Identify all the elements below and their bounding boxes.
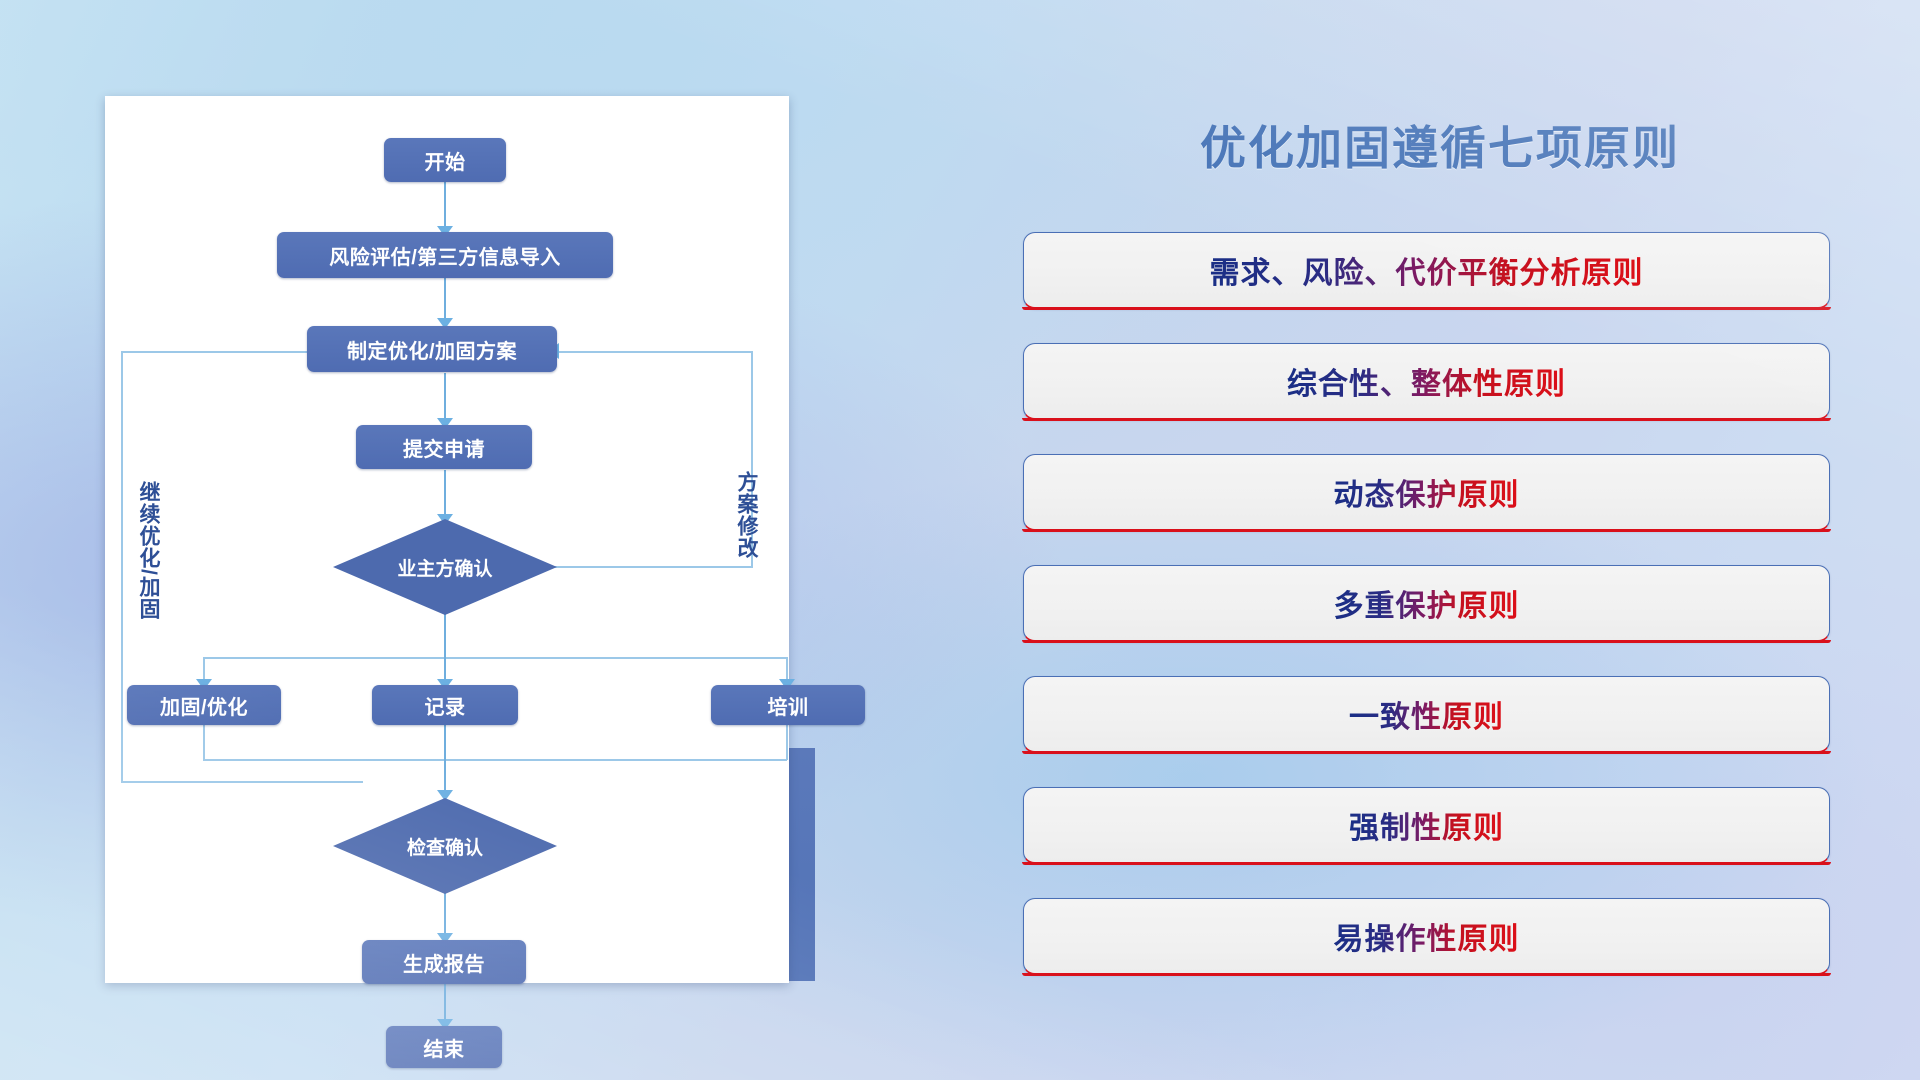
flow-node-record[interactable]: 记录 [372,685,518,725]
principle-item-6[interactable]: 强制性原则 [1023,787,1830,864]
connector-confirm-right [555,566,753,568]
connector-record-to-check [444,720,446,798]
flow-edge-label-left-loop: 继续优化/加固 [137,481,159,620]
principle-item-5[interactable]: 一致性原则 [1023,676,1830,753]
connector-confirm-down [444,614,446,658]
flowchart: 开始 风险评估/第三方信息导入 制定优化/加固方案 提交申请 业主方确认 加固/… [105,96,789,983]
principle-item-3[interactable]: 动态保护原则 [1023,454,1830,531]
principle-item-2[interactable]: 综合性、整体性原则 [1023,343,1830,420]
flow-node-make-plan[interactable]: 制定优化/加固方案 [307,326,557,372]
flow-node-end-label: 结束 [424,1033,465,1062]
flow-node-generate-report-label: 生成报告 [403,948,485,977]
principle-item-6-label: 强制性原则 [1349,803,1504,847]
flow-node-generate-report[interactable]: 生成报告 [362,940,526,984]
principle-item-7-label: 易操作性原则 [1334,914,1520,958]
connector-left-vertical [121,351,123,782]
connector-fanin-bus [203,759,787,761]
connector-right-to-plan [557,351,753,353]
connector-training-down [786,720,788,760]
flow-node-submit-application-label: 提交申请 [403,433,485,462]
flow-node-risk-assessment-label: 风险评估/第三方信息导入 [329,241,561,270]
flowchart-card: 开始 风险评估/第三方信息导入 制定优化/加固方案 提交申请 业主方确认 加固/… [105,96,789,983]
principle-item-2-label: 综合性、整体性原则 [1287,359,1566,403]
page-title: 优化加固遵循七项原则 [1030,112,1850,178]
flow-node-risk-assessment[interactable]: 风险评估/第三方信息导入 [277,232,613,278]
flow-node-owner-confirm-label: 业主方确认 [397,554,492,581]
principles-list: 需求、风险、代价平衡分析原则 综合性、整体性原则 动态保护原则 多重保护原则 一… [1023,232,1830,1009]
principle-item-3-label: 动态保护原则 [1334,470,1520,514]
flow-node-record-label: 记录 [425,691,466,720]
connector-check-to-left [121,781,363,783]
principle-item-1-label: 需求、风险、代价平衡分析原则 [1210,248,1644,292]
principle-item-7[interactable]: 易操作性原则 [1023,898,1830,975]
flow-node-make-plan-label: 制定优化/加固方案 [347,335,517,364]
flow-node-reinforce-optimize-label: 加固/优化 [160,691,248,720]
connector-submit-to-confirm [444,470,446,520]
flow-node-check-confirm[interactable]: 检查确认 [333,798,557,894]
flow-node-training[interactable]: 培训 [711,685,865,725]
principle-item-4-label: 多重保护原则 [1334,581,1520,625]
flow-edge-label-right-loop: 方案修改 [735,471,757,559]
principle-item-4[interactable]: 多重保护原则 [1023,565,1830,642]
connector-reinforce-down [203,720,205,760]
flow-node-training-label: 培训 [768,691,809,720]
flow-node-submit-application[interactable]: 提交申请 [356,425,532,469]
connector-fanout-bus [203,657,787,659]
flow-node-end[interactable]: 结束 [386,1026,502,1068]
flow-node-reinforce-optimize[interactable]: 加固/优化 [127,685,281,725]
principle-item-1[interactable]: 需求、风险、代价平衡分析原则 [1023,232,1830,309]
flow-node-check-confirm-label: 检查确认 [407,833,483,860]
flow-node-owner-confirm[interactable]: 业主方确认 [333,519,557,615]
slide-canvas: 开始 风险评估/第三方信息导入 制定优化/加固方案 提交申请 业主方确认 加固/… [0,0,1920,1080]
flow-node-start[interactable]: 开始 [384,138,506,182]
flow-node-start-label: 开始 [425,146,466,175]
principle-item-5-label: 一致性原则 [1349,692,1504,736]
